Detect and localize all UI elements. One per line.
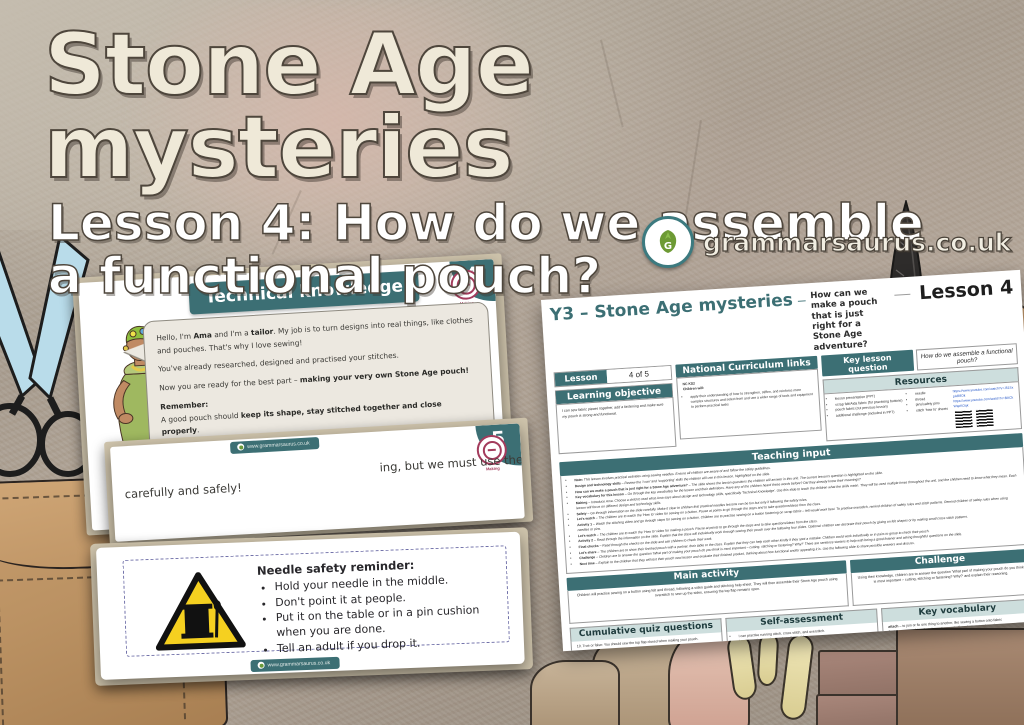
resources-col-2: needle thread pins/safety pins stitch 'h… xyxy=(909,390,951,432)
list-item: stitch 'how to' sheets xyxy=(916,406,950,414)
nc-links-body: NC KS2 Children will: apply their unders… xyxy=(676,369,822,440)
plan-lesson-column: Lesson 4 of 5 Learning objective I can s… xyxy=(554,365,677,454)
safety-text-block: Needle safety reminder: Hold your needle… xyxy=(257,555,498,658)
list-item: apply their understanding of how to stre… xyxy=(690,387,814,410)
lesson-label: Lesson xyxy=(555,370,608,386)
safety-list: Hold your needle in the middle. Don't po… xyxy=(257,572,498,657)
klq-value: How do we assemble a functional pouch? xyxy=(916,343,1018,370)
footer-url-text: www.grammarsaurus.co.uk xyxy=(247,440,310,450)
klq-header: Key lesson question xyxy=(821,350,914,377)
plan-right-column: Key lesson question How do we assemble a… xyxy=(821,343,1022,441)
learning-objective-text: I can sew fabric pieces together, add a … xyxy=(556,397,677,454)
wood-plank xyxy=(896,628,1024,725)
hide-shape xyxy=(530,660,620,725)
qr-code-icon xyxy=(954,409,974,429)
footer-url-text: www.grammarsaurus.co.uk xyxy=(268,660,331,668)
nc-intro: Children will: xyxy=(683,386,705,391)
resources-col-1: lesson presentation (PPT) scrap felt/Aid… xyxy=(829,392,908,437)
brand-logo-block[interactable]: G grammarsaurus.co.uk xyxy=(642,216,1011,268)
needle-safety-card[interactable]: Needle safety reminder: Hold your needle… xyxy=(96,532,525,680)
pouch-stitch-line xyxy=(0,595,16,725)
resources-links[interactable]: https://www.youtube.com/watch?v=J51SxpAR… xyxy=(953,386,1017,430)
qr-code-pair xyxy=(954,406,1017,429)
brand-dot-icon xyxy=(237,443,244,450)
needle-warning-triangle-icon xyxy=(153,570,246,651)
plan-nc-column: National Curriculum links NC KS2 Childre… xyxy=(675,356,821,440)
poster-canvas: Stone Age mysteries Lesson 4: How do we … xyxy=(0,0,1024,725)
svg-text:G: G xyxy=(664,241,672,252)
challenge-cell: Challenge Using their knowledge, childre… xyxy=(850,549,1024,606)
page-title: Stone Age mysteries xyxy=(44,24,994,189)
safety-card-footer-url[interactable]: www.grammarsaurus.co.uk xyxy=(250,657,339,672)
lesson-plan-document[interactable]: Y3 – Stone Age mysteries – How can we ma… xyxy=(541,270,1024,651)
slide-5-footer-url[interactable]: www.grammarsaurus.co.uk xyxy=(230,437,319,454)
brand-name: grammarsaurus.co.uk xyxy=(703,228,1011,257)
lesson-value: 4 of 5 xyxy=(607,366,672,383)
bone-needle xyxy=(757,632,780,687)
dinosaur-head-logo-icon: G xyxy=(642,216,694,268)
brand-dot-icon xyxy=(257,662,264,669)
qr-code-icon xyxy=(975,407,995,427)
nc-code: NC KS2 xyxy=(682,382,695,387)
